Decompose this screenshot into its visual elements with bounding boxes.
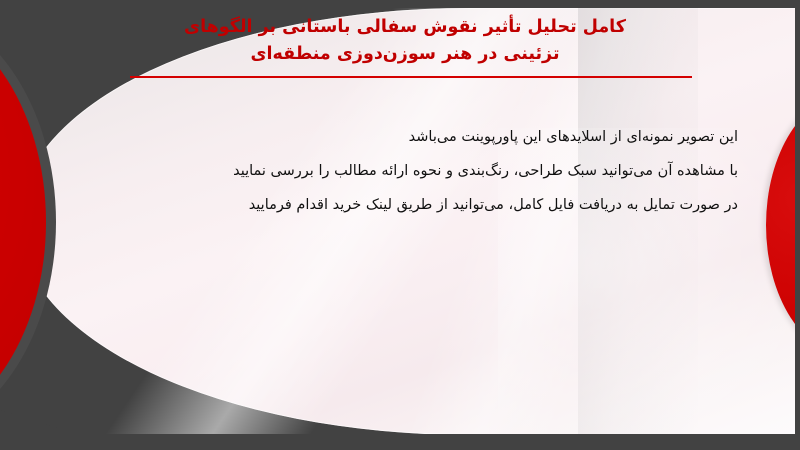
title-underline xyxy=(130,76,692,78)
slide-title: کامل تحلیل تأثیر نقوش سفالی باستانی بر ا… xyxy=(110,14,700,68)
presentation-slide: کامل تحلیل تأثیر نقوش سفالی باستانی بر ا… xyxy=(0,0,800,450)
slide-body: این تصویر نمونه‌ای از اسلایدهای این پاور… xyxy=(48,120,738,222)
right-frame-band xyxy=(795,0,800,450)
bottom-frame-band xyxy=(0,434,800,450)
body-line-3: در صورت تمایل به دریافت فایل کامل، می‌تو… xyxy=(48,188,738,222)
body-line-2: با مشاهده آن می‌توانید سبک طراحی، رنگ‌بن… xyxy=(48,154,738,188)
slide-title-line-2: تزئینی در هنر سوزن‌دوزی منطقه‌ای xyxy=(110,41,700,68)
panel-shade-right xyxy=(578,8,698,438)
slide-title-line-1: کامل تحلیل تأثیر نقوش سفالی باستانی بر ا… xyxy=(110,14,700,41)
top-frame-band xyxy=(0,0,800,8)
body-line-1: این تصویر نمونه‌ای از اسلایدهای این پاور… xyxy=(48,120,738,154)
